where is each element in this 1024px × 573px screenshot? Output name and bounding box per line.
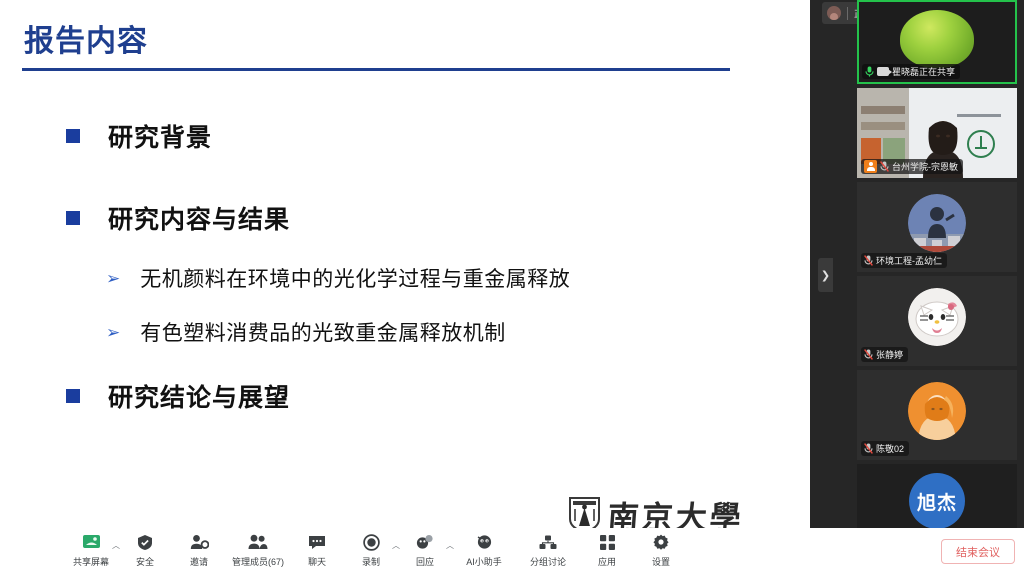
toolbar-button-reactions[interactable]: 回应 ︿: [398, 528, 452, 568]
tile-name-badge: 台州学院-宗恩敏: [861, 159, 963, 174]
tile-name-badge: 环境工程-孟幼仁: [861, 253, 947, 268]
breakout-rooms-icon: [539, 532, 557, 552]
toolbar-label: AI小助手: [466, 555, 502, 568]
record-icon: [363, 532, 380, 552]
participant-name: 张静婷: [876, 348, 903, 361]
tile-name-badge: 瞿晓磊正在共享: [862, 64, 960, 79]
page-title: 报告内容: [24, 16, 148, 60]
participants-panel: 正在讲话: 瞿晓磊 ◗◗ 瞿晓磊正在共享: [810, 0, 1024, 573]
toolbar-label: 分组讨论: [530, 555, 566, 568]
slide-bullet-1: 研究背景: [66, 118, 212, 154]
presentation-slide: 报告内容 研究背景 研究内容与结果 ➢ 无机颜料在环境中的光化学过程与重金属释放…: [0, 0, 752, 528]
participants-icon: [248, 532, 268, 552]
toolbar-label: 共享屏幕: [73, 555, 109, 568]
orange-photo-avatar: [908, 382, 966, 440]
toolbar-label: 应用: [598, 555, 616, 568]
camera-on-icon: [877, 67, 889, 76]
tile-name-badge: 陈敬02: [861, 441, 909, 456]
collapse-panel-button[interactable]: ❯: [818, 258, 833, 292]
apps-icon: [600, 532, 615, 552]
host-badge-icon: [864, 160, 877, 173]
video-tile-participant[interactable]: 陈敬02: [857, 370, 1017, 460]
nju-crest-icon: [568, 495, 601, 528]
square-bullet-icon: [66, 211, 80, 225]
bullet-label: 研究内容与结果: [108, 200, 290, 236]
slide-subbullet-2: ➢ 有色塑料消费品的光致重金属释放机制: [106, 317, 506, 347]
video-tile-sharer[interactable]: 瞿晓磊正在共享: [857, 0, 1017, 84]
divider: [847, 7, 848, 20]
shared-content-thumbnail: [900, 10, 974, 68]
toolbar-button-apps[interactable]: 应用: [580, 528, 634, 568]
participant-name: 环境工程-孟幼仁: [876, 254, 942, 267]
shared-screen-area: 报告内容 研究背景 研究内容与结果 ➢ 无机颜料在环境中的光化学过程与重金属释放…: [0, 0, 752, 573]
meeting-window: 报告内容 研究背景 研究内容与结果 ➢ 无机颜料在环境中的光化学过程与重金属释放…: [0, 0, 1024, 573]
toolbar-button-settings[interactable]: 设置: [634, 528, 688, 568]
toolbar-button-security[interactable]: 安全: [118, 528, 172, 568]
square-bullet-icon: [66, 389, 80, 403]
participant-name: 台州学院-宗恩敏: [892, 160, 958, 173]
speaker-avatar: [827, 6, 841, 20]
toolbar-button-record[interactable]: 录制 ︿: [344, 528, 398, 568]
slide-bullet-2: 研究内容与结果: [66, 200, 290, 236]
participant-name: 瞿晓磊正在共享: [892, 65, 955, 78]
reactions-icon: [416, 532, 434, 552]
mic-off-icon: [880, 161, 889, 172]
mic-off-icon: [864, 255, 873, 266]
participant-name: 陈敬02: [876, 442, 904, 455]
toolbar-label: 回应: [416, 555, 434, 568]
arrow-bullet-icon: ➢: [106, 324, 120, 341]
arrow-bullet-icon: ➢: [106, 270, 120, 287]
slide-bullet-3: 研究结论与展望: [66, 378, 290, 414]
toolbar-button-manage-participants[interactable]: 管理成员(67): [226, 528, 290, 568]
settings-gear-icon: [653, 532, 669, 552]
subbullet-label: 有色塑料消费品的光致重金属释放机制: [140, 317, 506, 347]
university-name: 南京大學: [606, 492, 745, 528]
invite-person-icon: [190, 532, 209, 552]
video-tile-participant[interactable]: 旭杰 ⌄: [857, 464, 1017, 538]
toolbar-button-share-screen[interactable]: 共享屏幕 ︿: [64, 528, 118, 568]
toolbar-label: 安全: [136, 555, 154, 568]
chat-icon: [308, 532, 326, 552]
subbullet-label: 无机颜料在环境中的光化学过程与重金属释放: [140, 263, 570, 293]
toolbar-button-breakout-rooms[interactable]: 分组讨论: [516, 528, 580, 568]
bullet-label: 研究背景: [108, 118, 212, 154]
university-logo: 南京大學: [568, 492, 744, 528]
screen-share-icon: [82, 532, 101, 552]
video-tile-participant[interactable]: 环境工程-孟幼仁: [857, 182, 1017, 272]
toolbar-button-ai-assistant[interactable]: AI小助手: [452, 528, 516, 568]
toolbar-label: 录制: [362, 555, 380, 568]
meeting-toolbar: 共享屏幕 ︿ 安全 邀请 管理成员(67): [0, 528, 752, 573]
toolbar-label: 管理成员(67): [232, 555, 284, 568]
end-meeting-label: 结束会议: [956, 544, 1000, 560]
toolbar-label: 邀请: [190, 555, 208, 568]
title-underline: [22, 68, 730, 71]
toolbar-button-chat[interactable]: 聊天: [290, 528, 344, 568]
chevron-right-icon: ❯: [821, 269, 830, 282]
bullet-label: 研究结论与展望: [108, 378, 290, 414]
hello-kitty-avatar: [908, 288, 966, 346]
mic-on-icon: [865, 66, 874, 77]
ai-assistant-icon: [476, 532, 493, 552]
end-meeting-button[interactable]: 结束会议: [941, 539, 1015, 564]
photo-avatar-sky: [908, 194, 966, 252]
toolbar-button-invite[interactable]: 邀请: [172, 528, 226, 568]
shield-icon: [137, 532, 153, 552]
toolbar-label: 设置: [652, 555, 670, 568]
toolbar-label: 聊天: [308, 555, 326, 568]
mic-off-icon: [864, 443, 873, 454]
video-tile-participant[interactable]: 张静婷: [857, 276, 1017, 366]
mic-off-icon: [864, 349, 873, 360]
slide-subbullet-1: ➢ 无机颜料在环境中的光化学过程与重金属释放: [106, 263, 570, 293]
square-bullet-icon: [66, 129, 80, 143]
tile-name-badge: 张静婷: [861, 347, 908, 362]
avatar-initials: 旭杰: [917, 488, 957, 515]
video-tile-participant[interactable]: 台州学院-宗恩敏: [857, 88, 1017, 178]
